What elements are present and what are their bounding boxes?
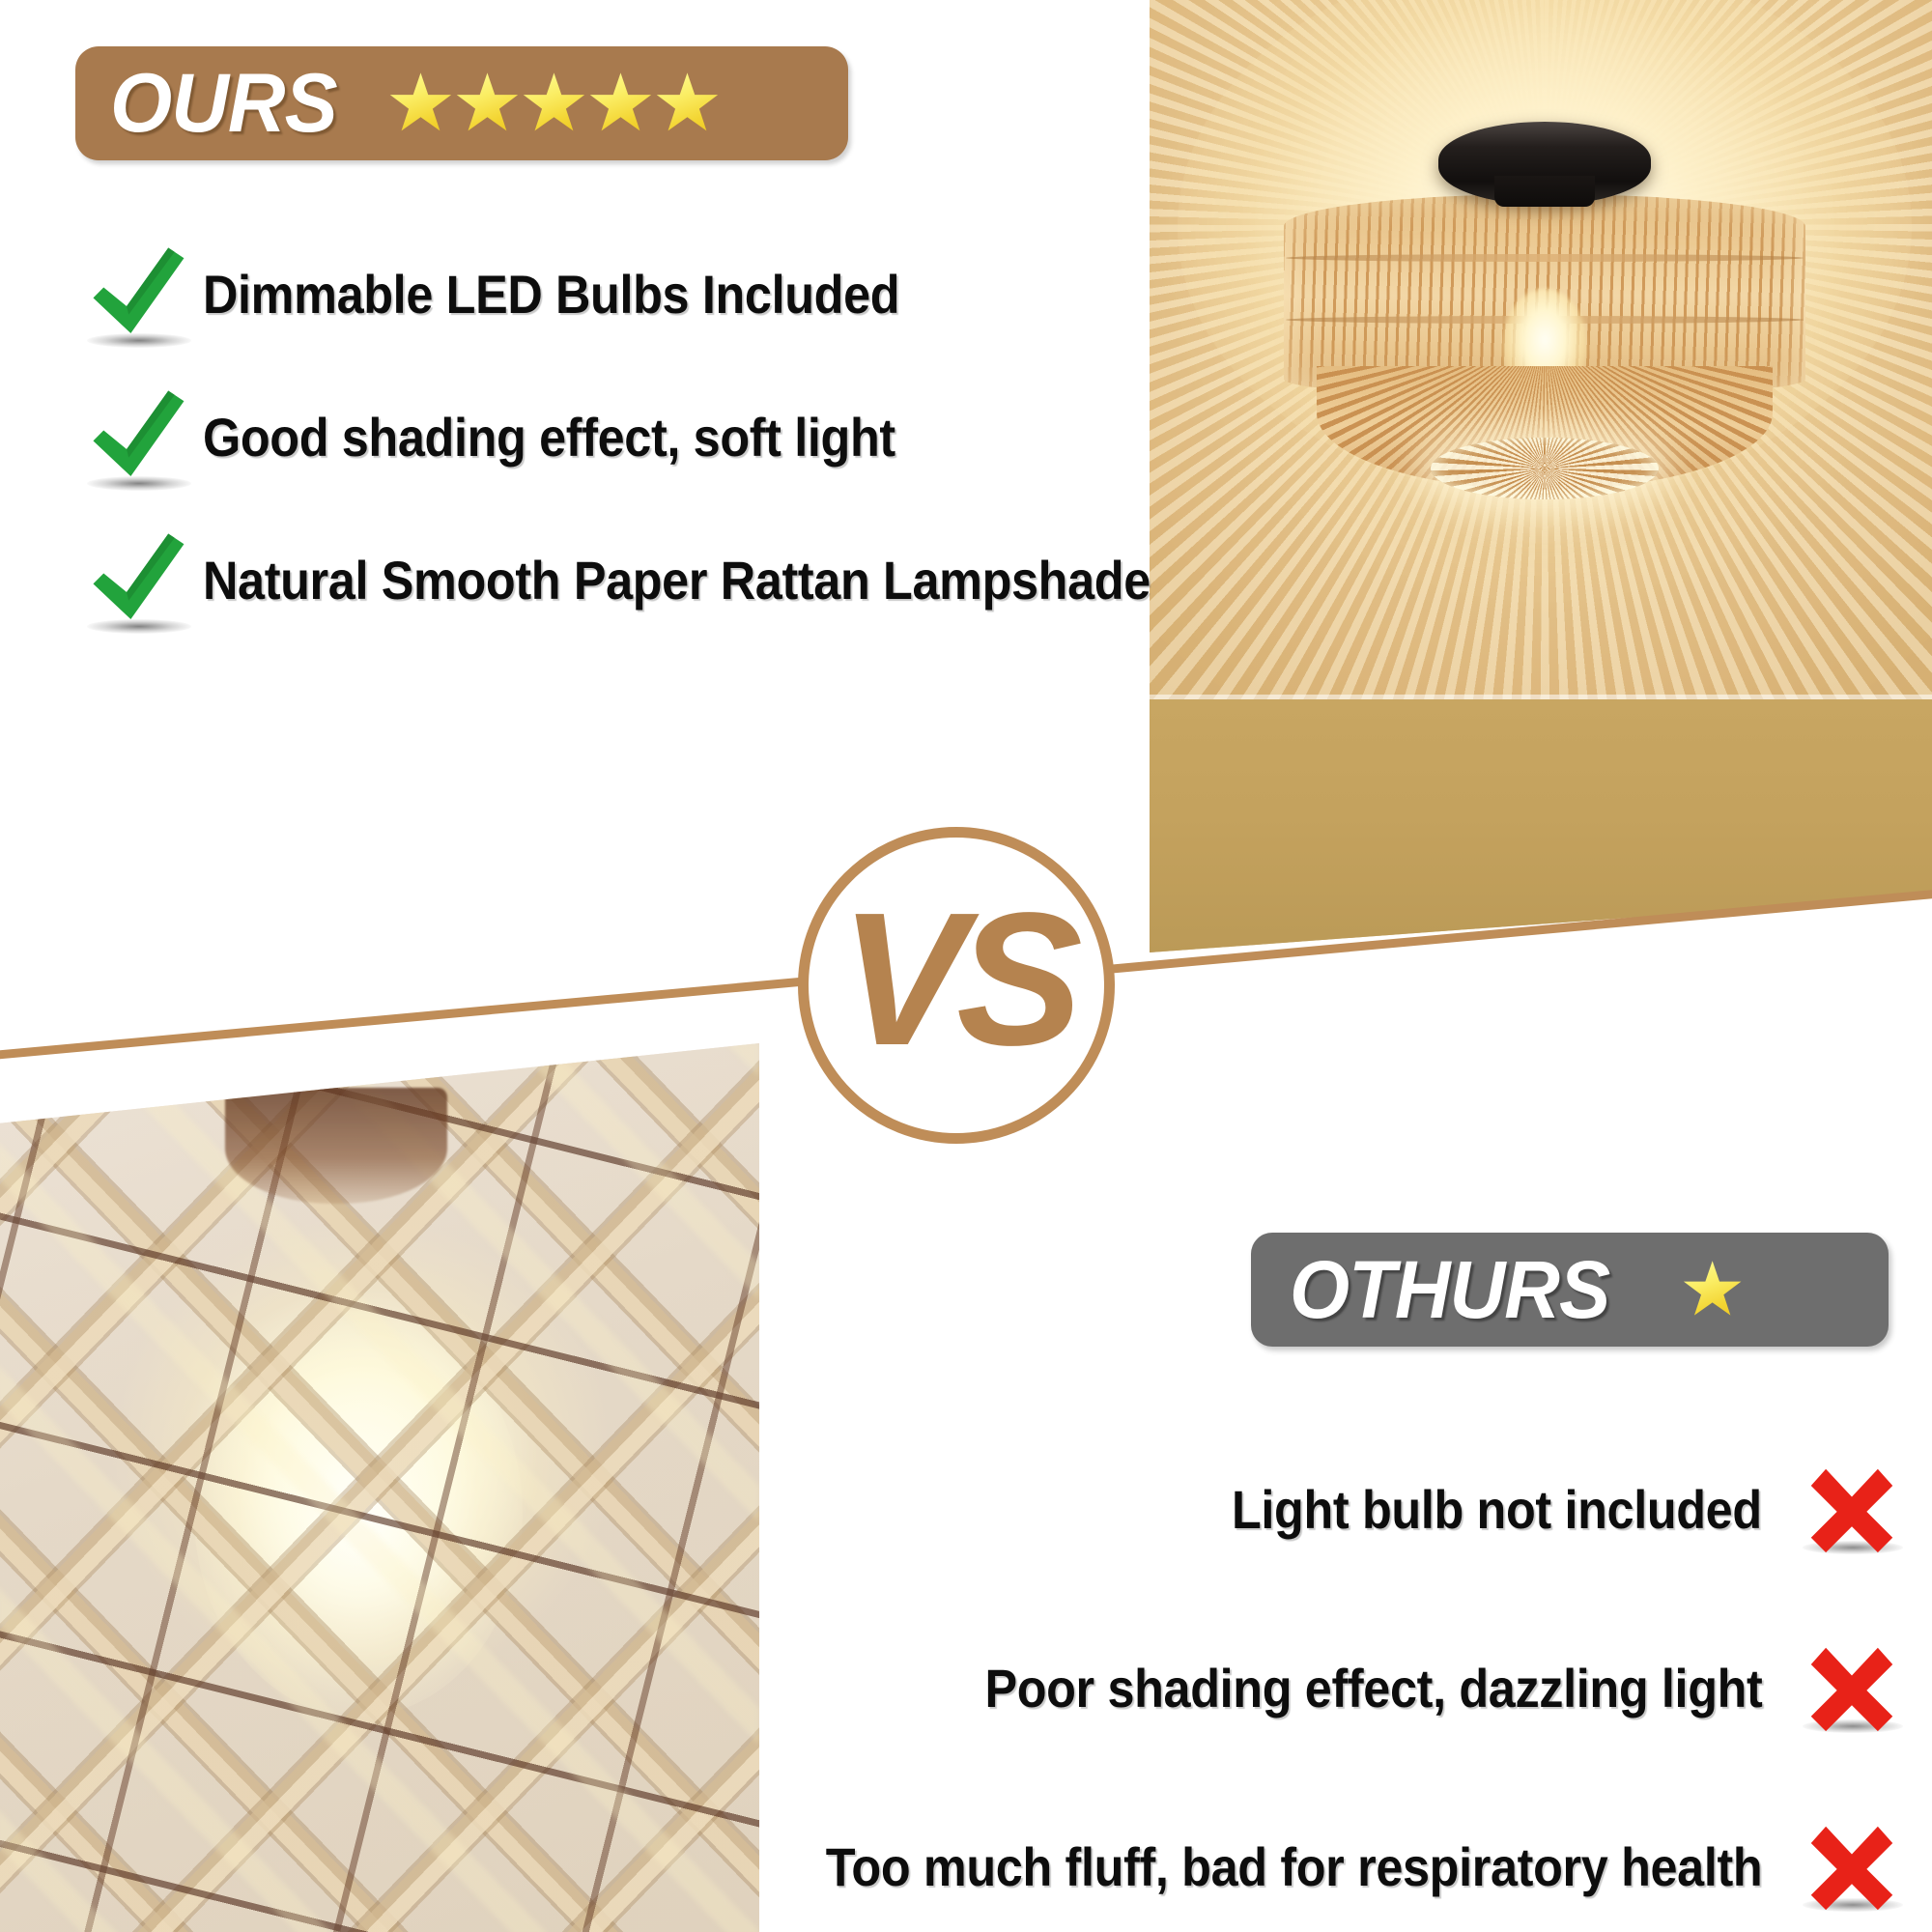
feature-text: Natural Smooth Paper Rattan Lampshade [203,549,1151,611]
feature-text: Good shading effect, soft light [203,406,895,469]
x-glyph [1805,1821,1898,1914]
feature-text: Dimmable LED Bulbs Included [203,263,899,326]
green-check-icon [75,230,203,357]
list-item: Light bulb not included [659,1420,1915,1599]
check-glyph [87,527,191,632]
vs-label: VS [839,885,1072,1074]
red-x-icon [1789,1631,1915,1747]
x-glyph [1805,1642,1898,1735]
x-glyph [1805,1463,1898,1556]
ours-star-rating [388,71,719,135]
list-item: Dimmable LED Bulbs Included [75,222,1099,365]
shade-band [1286,254,1804,262]
ours-feature-list: Dimmable LED Bulbs Included Good shading… [75,222,1099,651]
othurs-star-rating [1683,1260,1743,1320]
list-item: Natural Smooth Paper Rattan Lampshade [75,508,1099,651]
ours-banner: OURS [75,46,848,160]
green-check-icon [75,373,203,500]
list-item: Too much fluff, bad for respiratory heal… [659,1777,1915,1932]
shade-bottom-ring [1431,438,1659,499]
list-item: Good shading effect, soft light [75,365,1099,508]
othurs-product-photo [0,1043,759,1932]
drawback-text: Light bulb not included [1232,1478,1762,1541]
ours-banner-label: OURS [110,62,337,145]
star-icon [1683,1260,1743,1320]
rattan-lampshade [1284,194,1805,501]
star-icon [588,71,652,135]
star-icon [388,71,452,135]
check-glyph [87,241,191,346]
check-glyph [87,384,191,489]
list-item: Poor shading effect, dazzling light [659,1599,1915,1777]
othurs-banner: OTHURS [1251,1233,1889,1347]
vs-badge: VS [798,827,1115,1144]
othurs-drawback-list: Light bulb not included Poor shading eff… [659,1420,1915,1932]
ours-product-photo [1150,0,1932,952]
green-check-icon [75,516,203,643]
drawback-text: Poor shading effect, dazzling light [984,1657,1762,1719]
comparison-infographic: OURS Dimmable LED Bulbs Included [0,0,1932,1932]
othurs-banner-label: OTHURS [1290,1249,1609,1330]
canopy-stem [1494,176,1595,207]
star-icon [655,71,719,135]
star-icon [455,71,519,135]
red-x-icon [1789,1452,1915,1568]
lamp-socket [225,1088,447,1204]
drawback-text: Too much fluff, bad for respiratory heal… [825,1835,1762,1898]
wall-surface [1150,699,1932,952]
star-icon [522,71,585,135]
red-x-icon [1789,1809,1915,1925]
